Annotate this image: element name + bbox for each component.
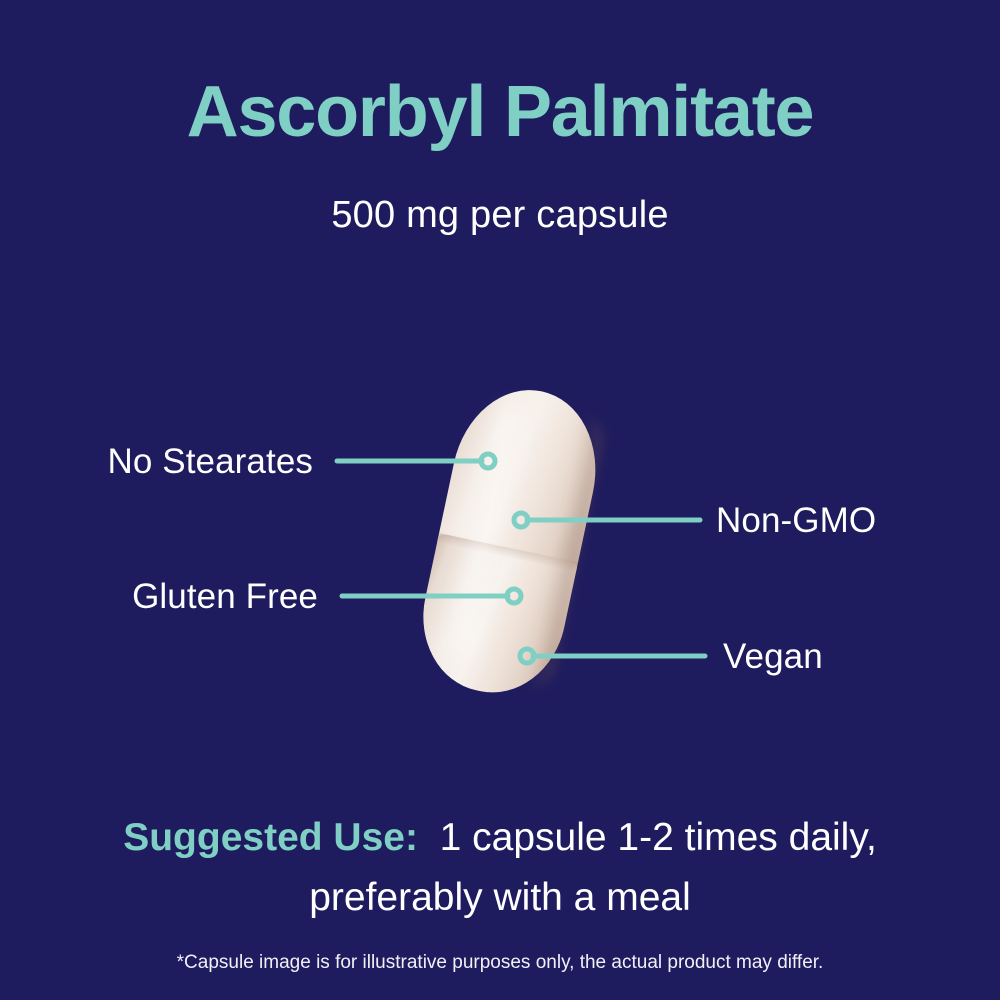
dosage-subtitle: 500 mg per capsule bbox=[0, 196, 1000, 234]
suggested-use-text: 1 capsule 1-2 times daily, bbox=[440, 816, 877, 859]
callout-label-vegan: Vegan bbox=[723, 639, 1000, 674]
capsule-graphic bbox=[409, 377, 612, 706]
callout-label-non-gmo: Non-GMO bbox=[716, 503, 1000, 538]
product-infographic: Ascorbyl Palmitate 500 mg per capsule No… bbox=[0, 0, 1000, 1000]
suggested-use-text-line2: preferably with a meal bbox=[309, 876, 691, 919]
disclaimer-text: *Capsule image is for illustrative purpo… bbox=[0, 953, 1000, 972]
suggested-use-block: Suggested Use: 1 capsule 1-2 times daily… bbox=[0, 808, 1000, 928]
capsule-image bbox=[417, 378, 602, 703]
page-title: Ascorbyl Palmitate bbox=[0, 76, 1000, 148]
capsule-body-half bbox=[409, 533, 578, 705]
suggested-use-label: Suggested Use: bbox=[123, 816, 418, 859]
callout-label-gluten-free: Gluten Free bbox=[0, 579, 318, 614]
callout-label-no-stearates: No Stearates bbox=[0, 444, 313, 479]
